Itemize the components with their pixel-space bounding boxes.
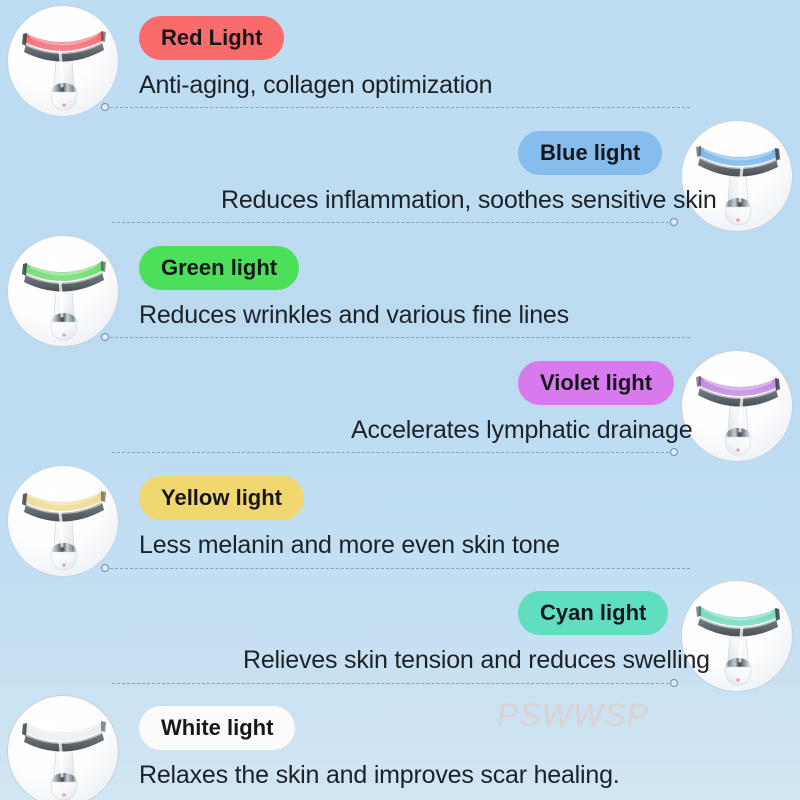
description-green: Reduces wrinkles and various fine lines xyxy=(139,301,569,330)
divider-endpoint-dot xyxy=(670,218,678,226)
divider-endpoint-dot xyxy=(101,564,109,572)
badge-blue[interactable]: Blue light xyxy=(518,131,662,175)
device-image-yellow xyxy=(7,465,119,577)
device-image-red xyxy=(7,5,119,117)
divider-after-violet xyxy=(112,448,674,457)
divider-line xyxy=(112,452,674,453)
device-image-white xyxy=(7,695,119,800)
divider-after-red xyxy=(105,103,690,112)
device-image-green xyxy=(7,235,119,347)
badge-cyan[interactable]: Cyan light xyxy=(518,591,668,635)
description-yellow: Less melanin and more even skin tone xyxy=(139,531,560,560)
divider-after-yellow xyxy=(105,564,690,573)
badge-white[interactable]: White light xyxy=(139,706,295,750)
divider-after-green xyxy=(105,333,690,342)
description-blue: Reduces inflammation, soothes sensitive … xyxy=(221,186,717,215)
divider-endpoint-dot xyxy=(101,333,109,341)
badge-red[interactable]: Red Light xyxy=(139,16,284,60)
divider-endpoint-dot xyxy=(670,679,678,687)
description-violet: Accelerates lymphatic drainage xyxy=(351,416,692,445)
device-image-violet xyxy=(681,350,793,462)
divider-line xyxy=(112,683,674,684)
badge-yellow[interactable]: Yellow light xyxy=(139,476,304,520)
description-cyan: Relieves skin tension and reduces swelli… xyxy=(243,646,710,675)
led-light-therapy-infographic: PSWWSP xyxy=(0,0,800,800)
divider-line xyxy=(112,222,674,223)
divider-line xyxy=(105,568,690,569)
description-red: Anti-aging, collagen optimization xyxy=(139,71,492,100)
divider-after-cyan xyxy=(112,679,674,688)
badge-green[interactable]: Green light xyxy=(139,246,299,290)
divider-endpoint-dot xyxy=(670,448,678,456)
device-image-cyan xyxy=(681,580,793,692)
divider-endpoint-dot xyxy=(101,103,109,111)
divider-after-blue xyxy=(112,218,674,227)
divider-line xyxy=(105,107,690,108)
watermark-text: PSWWSP xyxy=(497,697,649,734)
badge-violet[interactable]: Violet light xyxy=(518,361,674,405)
device-image-blue xyxy=(681,120,793,232)
description-white: Relaxes the skin and improves scar heali… xyxy=(139,761,620,790)
divider-line xyxy=(105,337,690,338)
